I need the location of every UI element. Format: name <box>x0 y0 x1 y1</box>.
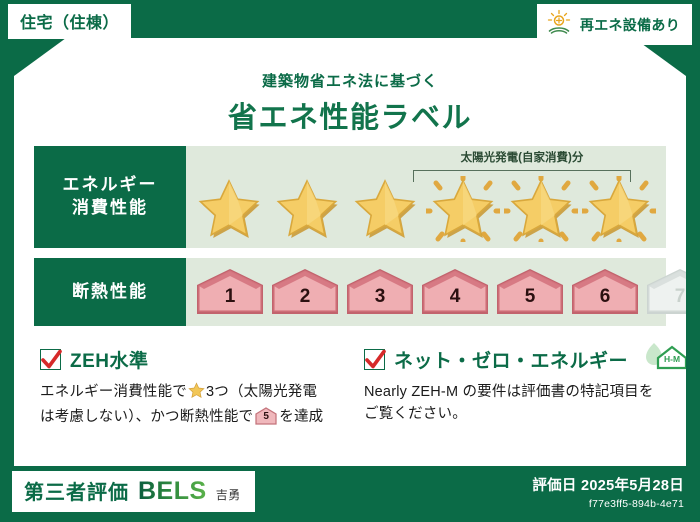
star-solar <box>426 176 500 242</box>
zeh-body-part1: エネルギー消費性能で <box>40 384 187 400</box>
bels-wordmark: BELS <box>138 477 207 506</box>
insulation-performance-row: 断熱性能 1 2 3 <box>34 258 666 326</box>
renewable-equipment-badge: 再エネ設備あり <box>537 4 692 45</box>
sun-solar-icon <box>546 9 572 40</box>
zeh-standard-block: ZEH水準 エネルギー消費性能で 3つ（太陽光発電 は考慮しない）、かつ断熱性能… <box>40 344 344 433</box>
svg-text:ZEH-M: ZEH-M <box>689 362 700 368</box>
energy-performance-body: 太陽光発電(自家消費)分 <box>186 146 666 248</box>
insulation-level-number: 4 <box>419 287 491 306</box>
inline-house-number: 5 <box>255 412 277 422</box>
insulation-level-6: 6 <box>569 267 641 317</box>
net-zero-energy-title: ネット・ゼロ・エネルギー <box>394 346 628 373</box>
check-icon <box>39 347 64 373</box>
insulation-level-number: 1 <box>194 287 266 306</box>
energy-label-line1: エネルギー <box>63 174 158 197</box>
zeh-standard-title: ZEH水準 <box>70 346 149 373</box>
zeh-standard-header: ZEH水準 <box>40 344 344 374</box>
zeh-body-star-count: 3つ（太陽光発電 <box>206 384 317 400</box>
insulation-performance-body: 1 2 3 4 5 <box>186 258 666 326</box>
zeh-standard-body: エネルギー消費性能で 3つ（太陽光発電 は考慮しない）、かつ断熱性能で 5 を達… <box>40 381 344 433</box>
insulation-level-7: 7 <box>644 267 700 317</box>
label-subtitle: 建築物省エネ法に基づく <box>14 70 686 91</box>
insulation-level-scale: 1 2 3 4 5 <box>194 267 700 317</box>
energy-label-root: 建築物省エネ法に基づく 省エネ性能ラベル エネルギー 消費性能 太陽光発電(自家… <box>0 0 700 522</box>
star-base <box>270 176 344 242</box>
third-party-evaluation-label: 第三者評価 <box>24 476 129 505</box>
building-type-label: 住宅（住棟） <box>20 15 119 32</box>
insulation-level-3: 3 <box>344 267 416 317</box>
energy-performance-row: エネルギー 消費性能 太陽光発電(自家消費)分 <box>34 146 666 248</box>
insulation-level-number: 7 <box>644 287 700 306</box>
label-card: 建築物省エネ法に基づく 省エネ性能ラベル エネルギー 消費性能 太陽光発電(自家… <box>14 14 686 466</box>
zeh-body-part3: を達成 <box>279 409 323 425</box>
insulation-level-4: 4 <box>419 267 491 317</box>
star-base <box>192 176 266 242</box>
renewable-equipment-label: 再エネ設備あり <box>580 15 680 35</box>
net-zero-energy-block: ネット・ゼロ・エネルギー H-M Nearly ZEH-M Nearly ZEH… <box>364 344 668 426</box>
bels-certification-bar: 第三者評価 BELS 吉勇 <box>12 471 255 512</box>
zeh-standard-checkbox[interactable] <box>40 349 61 370</box>
inline-house-badge: 5 <box>255 407 277 432</box>
net-zero-energy-body: Nearly ZEH-M の要件は評価書の特記項目をご覧ください。 <box>364 381 668 426</box>
solar-portion-caption: 太陽光発電(自家消費)分 <box>386 149 658 165</box>
insulation-level-2: 2 <box>269 267 341 317</box>
nearly-zehm-logo-icon: H-M Nearly ZEH-M <box>641 342 700 377</box>
energy-label-line2: 消費性能 <box>72 197 148 220</box>
building-type-tab: 住宅（住棟） <box>8 4 131 39</box>
star-solar <box>582 176 656 242</box>
energy-performance-label: エネルギー 消費性能 <box>34 146 186 248</box>
net-zero-energy-header: ネット・ゼロ・エネルギー H-M Nearly ZEH-M <box>364 344 668 374</box>
evaluation-meta: 評価日 2025年5月28日 f77e3ff5-894b-4e71 <box>532 474 684 510</box>
insulation-performance-label: 断熱性能 <box>34 258 186 326</box>
insulation-level-number: 2 <box>269 287 341 306</box>
evaluation-id: f77e3ff5-894b-4e71 <box>532 498 684 510</box>
star-rating <box>192 176 666 242</box>
insulation-level-number: 3 <box>344 287 416 306</box>
insulation-label-text: 断熱性能 <box>72 281 148 304</box>
inline-star-icon <box>188 382 205 406</box>
zeh-body-part2: は考慮しない）、かつ断熱性能で <box>40 409 253 425</box>
insulation-level-5: 5 <box>494 267 566 317</box>
svg-text:H-M: H-M <box>664 354 680 364</box>
star-base <box>348 176 422 242</box>
owner-name: 吉勇 <box>216 486 241 503</box>
insulation-level-number: 5 <box>494 287 566 306</box>
svg-text:Nearly: Nearly <box>689 357 700 363</box>
evaluation-date: 評価日 2025年5月28日 <box>532 474 684 495</box>
net-zero-energy-checkbox[interactable] <box>364 349 385 370</box>
page-title: 省エネ性能ラベル <box>14 94 686 136</box>
insulation-level-1: 1 <box>194 267 266 317</box>
check-icon <box>363 347 388 373</box>
star-solar <box>504 176 578 242</box>
insulation-level-number: 6 <box>569 287 641 306</box>
